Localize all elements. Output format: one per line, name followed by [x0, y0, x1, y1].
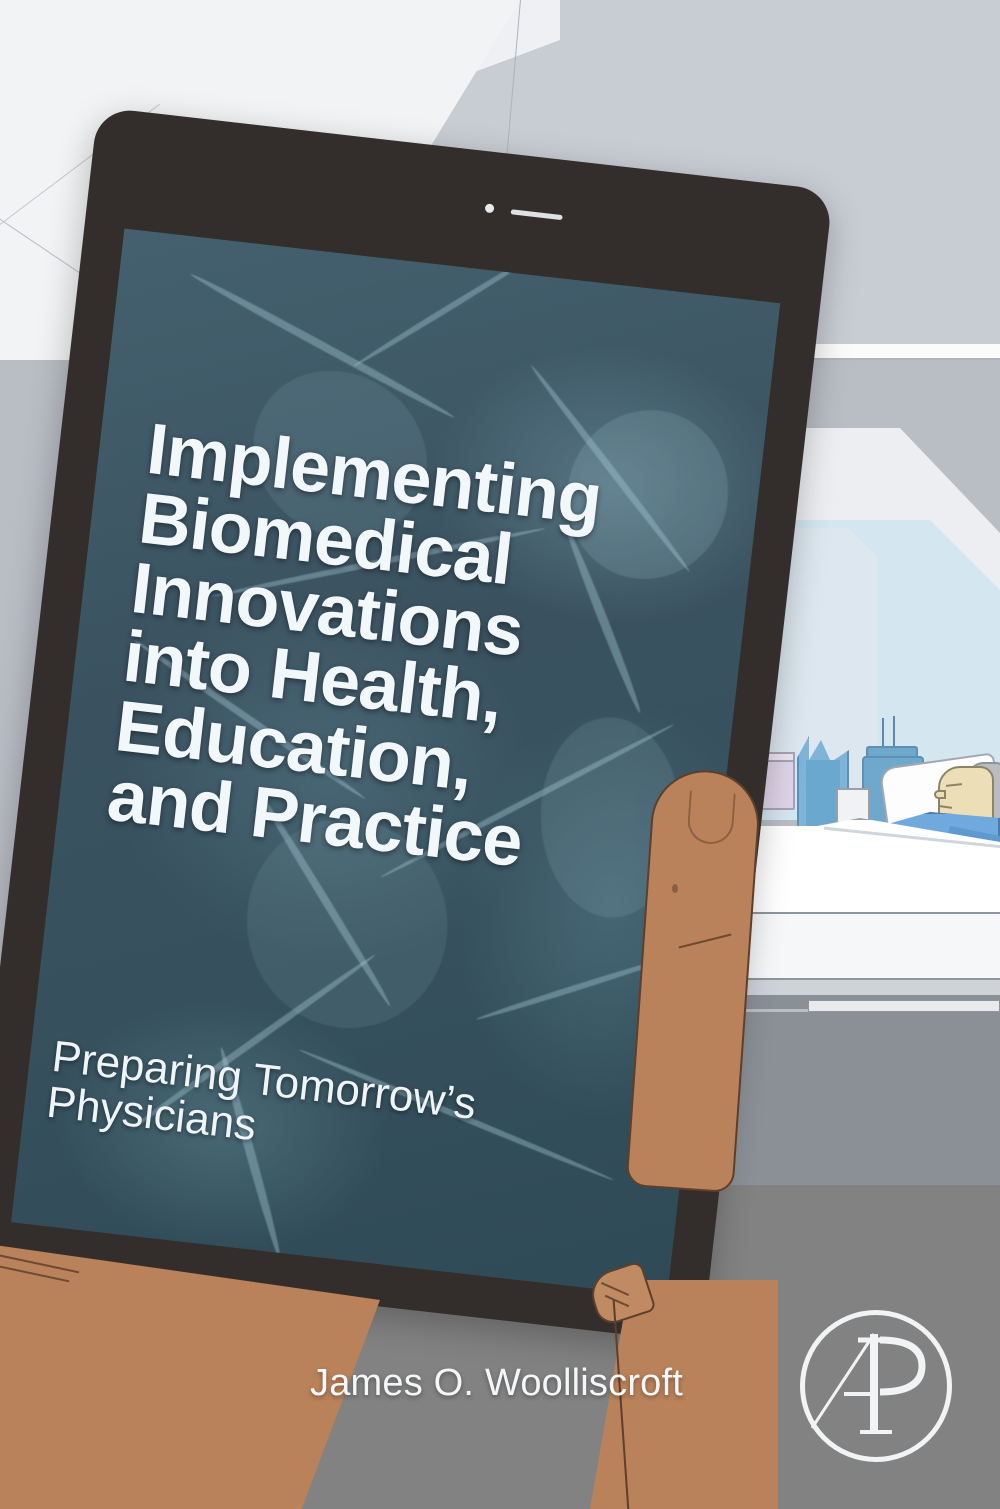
academic-press-ap-icon [800, 1310, 952, 1462]
skyline-antenna-left [882, 718, 884, 748]
thumb-detail-mark [672, 884, 678, 893]
author-name: James O. Woolliscroft [310, 1362, 683, 1405]
skyline-antenna-right [893, 716, 895, 748]
patient-nose [934, 790, 946, 799]
bed-rail-secondary [808, 1000, 1000, 1012]
earpiece-speaker-icon [511, 209, 563, 220]
book-cover: Implementing Biomedical Innovations into… [0, 0, 1000, 1509]
front-camera-icon [485, 203, 495, 213]
